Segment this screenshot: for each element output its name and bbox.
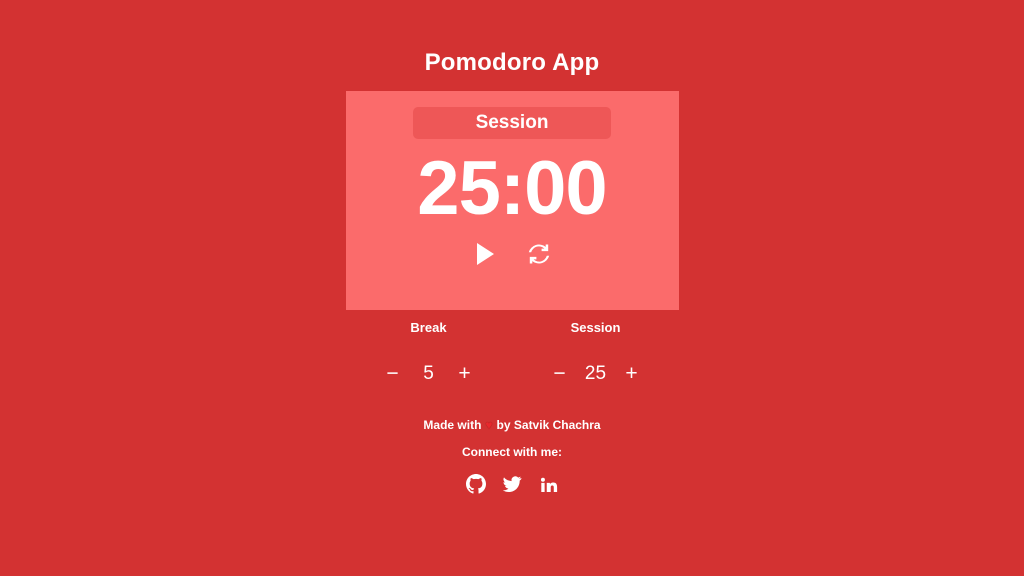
refresh-icon bbox=[527, 242, 551, 266]
github-link[interactable] bbox=[466, 474, 486, 494]
linkedin-icon bbox=[539, 475, 558, 494]
session-stepper: − 25 + bbox=[553, 363, 639, 384]
session-value: 25 bbox=[583, 363, 609, 384]
break-stepper: − 5 + bbox=[386, 363, 472, 384]
timer-controls bbox=[472, 241, 552, 267]
play-icon bbox=[474, 242, 496, 266]
play-button[interactable] bbox=[472, 241, 498, 267]
page-title: Pomodoro App bbox=[425, 48, 600, 78]
session-decrement-button[interactable]: − bbox=[553, 363, 567, 384]
break-increment-button[interactable]: + bbox=[458, 363, 472, 384]
footer: Made with ♥ by Satvik Chachra Connect wi… bbox=[423, 417, 600, 494]
session-increment-button[interactable]: + bbox=[625, 363, 639, 384]
settings-row: Break − 5 + Session − 25 + bbox=[346, 320, 679, 384]
made-with-suffix: by Satvik Chachra bbox=[497, 417, 601, 433]
heart-icon: ♥ bbox=[485, 419, 492, 431]
break-label: Break bbox=[410, 320, 446, 336]
break-value: 5 bbox=[416, 363, 442, 384]
break-decrement-button[interactable]: − bbox=[386, 363, 400, 384]
session-label: Session bbox=[571, 320, 621, 336]
twitter-link[interactable] bbox=[502, 474, 522, 494]
pomodoro-app: Pomodoro App Session 25:00 bbox=[0, 0, 1024, 576]
timer-display: 25:00 bbox=[417, 149, 606, 229]
github-icon bbox=[466, 474, 486, 494]
timer-card: Session 25:00 bbox=[346, 91, 679, 310]
session-setting: Session − 25 + bbox=[513, 320, 679, 384]
break-setting: Break − 5 + bbox=[346, 320, 512, 384]
made-with-prefix: Made with bbox=[423, 417, 481, 433]
made-with-credit: Made with ♥ by Satvik Chachra bbox=[423, 417, 600, 433]
twitter-icon bbox=[502, 474, 522, 494]
connect-text: Connect with me: bbox=[462, 444, 562, 460]
linkedin-link[interactable] bbox=[538, 474, 558, 494]
social-links bbox=[466, 474, 558, 494]
reset-button[interactable] bbox=[526, 241, 552, 267]
timer-mode-badge: Session bbox=[413, 107, 611, 139]
